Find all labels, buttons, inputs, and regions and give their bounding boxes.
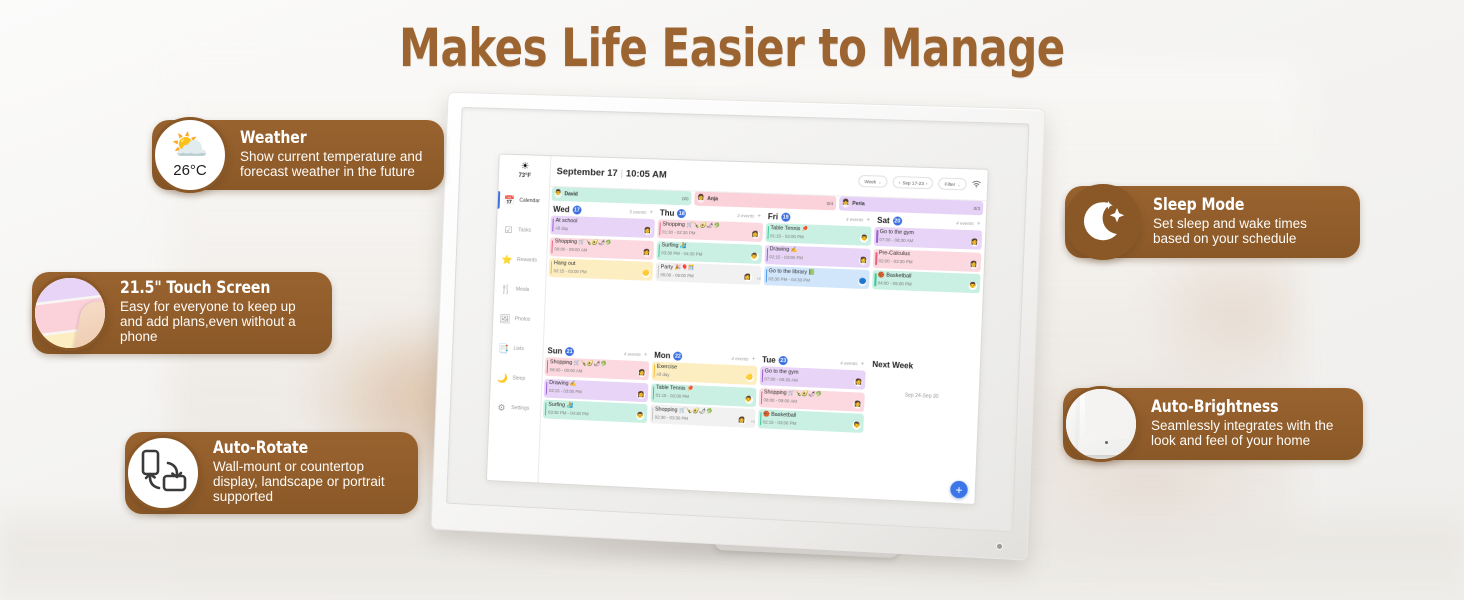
event-avatar: 🟡 (642, 270, 650, 278)
callout-heading: 21.5" Touch Screen (120, 280, 302, 298)
next-week-range: Sep 24-Sep 30 (868, 391, 976, 402)
add-event-icon[interactable]: + (977, 221, 981, 227)
event-card[interactable]: Go to the gym07:00 - 08:30 AM👩 (874, 227, 982, 250)
lists-icon: 📑 (498, 342, 510, 354)
event-card[interactable]: Drawing ✍02:15 - 03:00 PM👩 (764, 245, 871, 268)
day-name: Sat (877, 216, 890, 225)
calendar-grid: Wed175 events+At schoolAll day👩Shopping … (540, 203, 985, 504)
day-name: Wed (553, 205, 570, 214)
day-event-count: 4 events (846, 217, 864, 223)
weather-temperature: 73°F (518, 173, 531, 179)
add-event-icon[interactable]: + (649, 210, 653, 216)
event-list: Go to the gym07:00 - 08:30 AM👩Shopping 🛒… (757, 366, 866, 433)
filter-button[interactable]: Filter ⌄ (938, 177, 967, 190)
day-column: Wed175 events+At schoolAll day👩Shopping … (546, 203, 655, 346)
photos-icon: 🖼 (499, 313, 511, 325)
event-avatar: 🟡 (745, 374, 753, 382)
day-name: Tue (762, 355, 776, 365)
device-sensor-photo (1063, 386, 1139, 462)
device-mockup: ☀ 73°F 📅Calendar☑Tasks⭐Rewards🍴Meals🖼Pho… (425, 100, 1045, 560)
day-column: Mon224 events+ExerciseAll day🟡Table Tenn… (647, 349, 757, 493)
event-avatar: 👩 (853, 400, 861, 408)
callout-heading: Auto-Rotate (213, 440, 389, 458)
sleep-icon: 🌙 (497, 372, 509, 384)
event-card[interactable]: 🏀 Basketball04:00 - 05:00 PM👨 (872, 270, 980, 293)
sidebar-item-label: Photos (515, 316, 531, 323)
sidebar-item-label: Settings (511, 405, 529, 412)
add-event-icon[interactable]: + (861, 361, 865, 367)
event-card[interactable]: Shopping 🛒🍾🥑🌶🥬08:00 - 09:00 AM👩 (545, 357, 649, 380)
day-number-badge: 19 (781, 213, 790, 222)
add-event-icon[interactable]: + (644, 352, 648, 358)
event-card[interactable]: Pre-Calculus02:00 - 03:30 PM👩 (873, 248, 981, 271)
event-more-count: +1 (751, 419, 756, 424)
page-title: Makes Life Easier to Manage (88, 18, 1376, 79)
event-list: Table Tennis 🏓01:15 - 02:00 PM👨Drawing ✍… (763, 223, 872, 289)
event-list: ExerciseAll day🟡Table Tennis 🏓01:15 - 02… (650, 362, 757, 428)
day-event-count: 4 events (624, 351, 641, 357)
day-column: Thu183 events+Shopping 🛒🍾🥑🌶🥬01:30 - 02:3… (653, 206, 764, 350)
day-event-count: 4 events (840, 360, 858, 366)
event-list: At schoolAll day👩Shopping 🛒🍾🥑🌶🥬08:00 - 0… (549, 216, 655, 281)
member-task-count: 0/0 (682, 196, 689, 201)
view-selector[interactable]: Week ⌄ (858, 175, 888, 188)
event-card[interactable]: Table Tennis 🏓01:15 - 02:00 PM👨 (650, 383, 756, 407)
day-name: Sun (547, 346, 562, 356)
event-avatar: 👩 (738, 416, 746, 424)
view-label: Week (864, 179, 876, 184)
callout-auto-brightness: Auto-Brightness Seamlessly integrates wi… (1063, 388, 1363, 460)
moon-stars-icon (1065, 184, 1141, 260)
calendar-screen: ☀ 73°F 📅Calendar☑Tasks⭐Rewards🍴Meals🖼Pho… (487, 154, 988, 503)
day-number-badge: 20 (893, 216, 902, 225)
day-name: Mon (654, 351, 671, 361)
sidebar-item-lists[interactable]: 📑Lists (492, 333, 544, 365)
weather-celsius-label: 26°C (173, 162, 207, 179)
event-avatar: 👨 (750, 252, 758, 260)
event-card[interactable]: Go to the library 📗03:30 PM - 04:30 PM🔵 (763, 266, 870, 289)
rewards-icon: ⭐ (501, 253, 513, 265)
next-week-icon[interactable]: › (926, 181, 928, 186)
brightness-sensor-icon (1105, 441, 1108, 444)
sidebar-item-label: Tasks (518, 227, 531, 233)
member-name: Anja (707, 196, 718, 202)
light-sensor-icon (997, 544, 1002, 549)
callout-text: Set sleep and wake times based on your s… (1153, 216, 1346, 247)
filter-label: Filter (945, 181, 956, 186)
avatar: 👨 (555, 190, 562, 197)
member-name: Peria (852, 201, 865, 207)
rotate-device-icon (125, 435, 201, 511)
toolbar-controls: Week ⌄ ‹ Sep 17-23 › Filter ⌄ (858, 175, 981, 191)
sidebar-item-settings[interactable]: ⚙Settings (489, 392, 541, 424)
sidebar-item-sleep[interactable]: 🌙Sleep (490, 363, 542, 395)
add-event-icon[interactable]: + (757, 213, 761, 219)
add-event-icon[interactable]: + (752, 356, 756, 362)
calendar-row-top: Wed175 events+At schoolAll day👩Shopping … (546, 203, 983, 359)
calendar-row-bottom: Sun214 events+Shopping 🛒🍾🥑🌶🥬08:00 - 09:0… (540, 344, 977, 504)
event-avatar: 👩 (969, 260, 977, 268)
day-event-count: 5 events (629, 209, 646, 215)
day-number-badge: 21 (565, 347, 574, 356)
callout-text: Wall-mount or countertop display, landsc… (213, 459, 404, 505)
separator: | (620, 168, 623, 179)
week-range-nav[interactable]: ‹ Sep 17-23 › (892, 176, 933, 189)
member-task-count: 0/3 (973, 205, 980, 210)
callout-text: Easy for everyone to keep up and add pla… (120, 299, 318, 345)
event-card[interactable]: Go to the gym07:00 - 08:30 AM👩 (759, 366, 866, 390)
sidebar-item-label: Meals (516, 287, 530, 293)
callout-text: Show current temperature and forecast we… (240, 149, 430, 180)
current-time: 10:05 AM (626, 168, 667, 180)
sidebar-item-label: Calendar (519, 198, 540, 205)
device-corner-photo (1066, 389, 1136, 459)
date-time-display: September 17|10:05 AM (556, 166, 667, 180)
day-column: Tue234 events+Go to the gym07:00 - 08:30… (755, 353, 867, 498)
next-week-title: Next Week (869, 358, 977, 374)
event-card[interactable]: 🏀 Basketball02:15 - 03:00 PM👨 (757, 409, 864, 433)
chevron-down-icon: ⌄ (878, 179, 882, 184)
event-list: Shopping 🛒🍾🥑🌶🥬08:00 - 09:00 AM👩Drawing ✍… (543, 357, 649, 423)
day-name: Fri (768, 212, 779, 221)
day-column: Sat204 events+Go to the gym07:00 - 08:30… (870, 214, 983, 359)
wifi-icon[interactable] (972, 180, 982, 189)
callout-touch-screen: 21.5" Touch Screen Easy for everyone to … (32, 272, 332, 354)
day-name: Thu (660, 208, 675, 217)
day-column: Fri194 events+Table Tennis 🏓01:15 - 02:0… (761, 210, 873, 355)
sidebar-item-label: Rewards (517, 257, 537, 264)
event-avatar: 👨 (636, 412, 644, 420)
day-column: Sun214 events+Shopping 🛒🍾🥑🌶🥬08:00 - 09:0… (540, 344, 649, 488)
event-card[interactable]: Party 🎉🎈🎊05:00 - 06:00 PM👩+2 (655, 262, 761, 285)
sidebar-item-photos[interactable]: 🖼Photos (493, 303, 545, 335)
event-card[interactable]: Shopping 🛒🍾🥑🌶🥬02:30 - 03:30 PM👩+1 (650, 404, 756, 428)
event-card[interactable]: Shopping 🛒🍾🥑🌶🥬08:00 - 09:00 AM👩 (549, 237, 653, 260)
event-card[interactable]: ExerciseAll day🟡 (651, 362, 757, 385)
event-card[interactable]: Surfing 🏄03:30 PM - 04:30 PM👨 (543, 400, 647, 424)
calendar-icon: 📅 (504, 194, 516, 206)
sidebar-item-calendar[interactable]: 📅Calendar (497, 185, 549, 216)
blue-accent (1063, 386, 1078, 394)
current-date: September 17 (556, 166, 617, 179)
add-event-icon[interactable]: + (866, 217, 870, 223)
settings-icon: ⚙ (495, 401, 507, 413)
callout-text: Seamlessly integrates with the look and … (1151, 418, 1349, 449)
prev-week-icon[interactable]: ‹ (899, 180, 901, 185)
callout-heading: Auto-Brightness (1151, 399, 1333, 417)
event-avatar: 👨 (744, 395, 752, 403)
day-number-badge: 22 (673, 351, 682, 360)
event-avatar: 👩 (743, 273, 751, 281)
mini-calendar-photo (32, 275, 108, 351)
weather-widget[interactable]: ☀ 73°F (499, 154, 552, 186)
chevron-down-icon: ⌄ (957, 182, 961, 187)
sidebar-item-label: Lists (513, 346, 524, 352)
weather-glyph: ⛅ (171, 131, 208, 161)
event-avatar: 👩 (642, 248, 650, 256)
day-number-badge: 18 (677, 209, 686, 218)
sidebar-item-label: Sleep (512, 375, 525, 381)
day-number-badge: 17 (572, 205, 581, 214)
event-card[interactable]: Shopping 🛒🍾🥑🌶🥬01:30 - 02:30 PM👩 (657, 219, 763, 242)
event-list: Go to the gym07:00 - 08:30 AM👩Pre-Calcul… (872, 227, 982, 294)
next-week-panel[interactable]: Next WeekSep 24-Sep 30+ (864, 358, 977, 504)
day-number-badge: 23 (779, 356, 788, 365)
tasks-icon: ☑ (502, 224, 514, 236)
day-event-count: 4 events (731, 356, 749, 362)
event-list: Shopping 🛒🍾🥑🌶🥬01:30 - 02:30 PM👩Surfing 🏄… (655, 219, 762, 285)
avatar: 👧 (842, 200, 849, 207)
avatar: 👩 (697, 195, 704, 202)
sidebar-item-tasks[interactable]: ☑Tasks (496, 215, 548, 246)
meals-icon: 🍴 (500, 283, 512, 295)
add-event-fab[interactable]: + (950, 481, 968, 499)
callout-weather: ⛅ 26°C Weather Show current temperature … (152, 120, 444, 190)
mini-device-frame (1078, 386, 1136, 455)
sidebar-item-rewards[interactable]: ⭐Rewards (495, 244, 547, 276)
touch-screen-photo (32, 275, 108, 351)
callout-sleep-mode: Sleep Mode Set sleep and wake times base… (1065, 186, 1360, 258)
event-card[interactable]: Table Tennis 🏓01:15 - 02:00 PM👨 (765, 223, 872, 246)
event-avatar: 👩 (859, 256, 867, 264)
event-avatar: 👩 (751, 231, 759, 239)
callout-heading: Sleep Mode (1153, 197, 1331, 215)
callout-heading: Weather (240, 130, 415, 148)
event-more-count: +2 (756, 276, 761, 281)
event-avatar: 👩 (637, 390, 645, 398)
day-event-count: 3 events (737, 213, 755, 219)
mini-device-screen (1085, 386, 1129, 439)
week-range-label: Sep 17-23 (902, 180, 924, 186)
event-avatar: 👩 (643, 227, 651, 235)
event-card[interactable]: Shopping 🛒🍾🥑🌶🥬08:00 - 09:00 AM👩 (758, 388, 865, 412)
member-task-count: 0/4 (827, 200, 834, 205)
member-name: David (564, 191, 578, 197)
event-card[interactable]: Surfing 🏄03:30 PM - 04:30 PM👨 (656, 241, 762, 264)
callout-auto-rotate: Auto-Rotate Wall-mount or countertop dis… (125, 432, 418, 514)
sun-cloud-icon: ⛅ 26°C (152, 117, 228, 193)
day-event-count: 4 events (956, 221, 974, 227)
event-avatar: 👩 (638, 369, 646, 377)
event-card[interactable]: Hang out02:15 - 03:00 PM🟡 (549, 258, 653, 281)
event-card[interactable]: At schoolAll day👩 (550, 216, 655, 239)
sidebar-item-meals[interactable]: 🍴Meals (494, 274, 546, 306)
event-card[interactable]: Drawing ✍02:15 - 03:00 PM👩 (544, 378, 648, 401)
sun-icon: ☀ (520, 162, 529, 172)
